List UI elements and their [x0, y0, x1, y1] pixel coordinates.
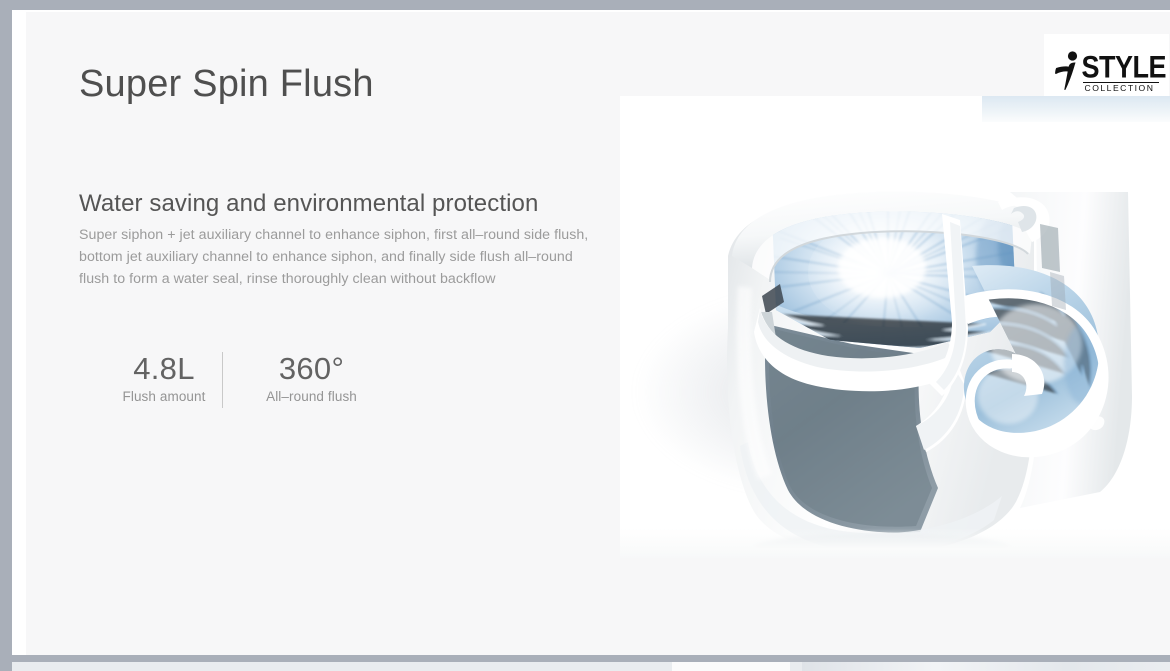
product-feature-page: Super Spin Flush Water saving and enviro…: [0, 0, 1170, 671]
content-panel: Super Spin Flush Water saving and enviro…: [26, 12, 1170, 655]
frame-top-border: [0, 0, 1170, 10]
toilet-cutaway-illustration: [620, 96, 1170, 558]
body-paragraph: Super siphon + jet auxiliary channel to …: [79, 224, 595, 291]
product-image: [620, 96, 1170, 558]
stat-label: All–round flush: [244, 388, 379, 406]
logo-subtitle: COLLECTION: [1085, 83, 1155, 94]
stat-flush-amount: 4.8L Flush amount: [109, 350, 219, 406]
next-section-chip: [672, 662, 790, 671]
image-bottom-fade: [620, 528, 1170, 558]
next-section-sliver: [12, 662, 1170, 671]
stat-label: Flush amount: [109, 388, 219, 406]
running-figure-icon: [1055, 50, 1081, 90]
frame-inner-gap: [12, 10, 26, 655]
stat-value: 360°: [244, 350, 379, 388]
page-title: Super Spin Flush: [79, 64, 624, 106]
section-subheading: Water saving and environmental protectio…: [79, 190, 624, 218]
panel-bottom-divider: [12, 655, 1170, 662]
next-section-image-sliver: [802, 662, 1170, 671]
logo-inner: STYLE COLLECTION: [1055, 47, 1159, 93]
stat-all-round-flush: 360° All–round flush: [244, 350, 379, 406]
stat-divider: [222, 352, 223, 408]
stat-value: 4.8L: [109, 350, 219, 388]
headline-block: Super Spin Flush: [79, 64, 624, 106]
stats-group: 4.8L Flush amount 360° All–round flush: [79, 350, 399, 416]
frame-left-border: [0, 0, 12, 671]
logo-wordmark: STYLE: [1082, 49, 1167, 84]
brand-logo: STYLE COLLECTION: [1044, 34, 1169, 105]
